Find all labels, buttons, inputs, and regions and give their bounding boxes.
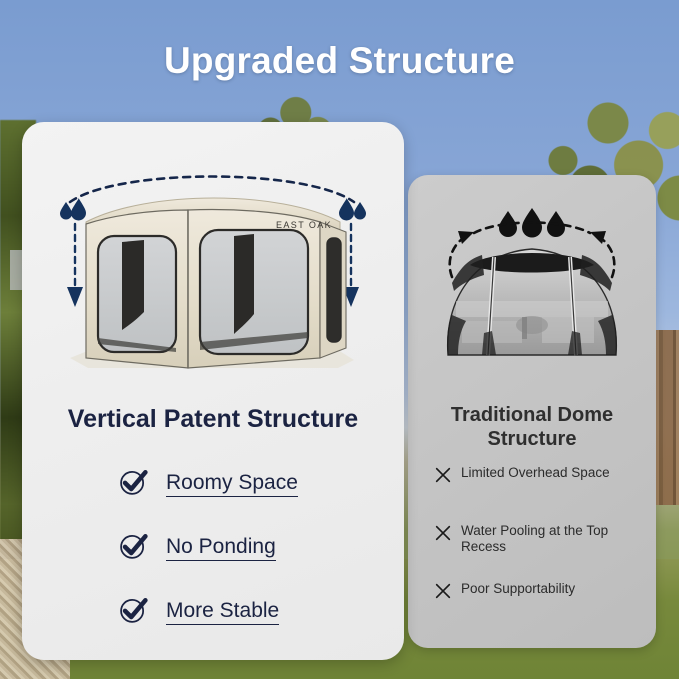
x-icon <box>434 524 452 547</box>
gazebo-body: EAST OAK <box>70 198 354 368</box>
list-item: Water Pooling at the Top Recess <box>408 523 656 581</box>
check-circle-icon <box>118 467 148 502</box>
feature-label: More Stable <box>166 599 279 624</box>
x-icon <box>434 582 452 605</box>
list-item: Limited Overhead Space <box>408 465 656 523</box>
traditional-dome-heading-line2: Structure <box>414 427 650 451</box>
traditional-dome-card: Traditional Dome Structure Limited Overh… <box>408 175 656 648</box>
drawback-label: Poor Supportability <box>461 581 575 597</box>
page-title: Upgraded Structure <box>0 40 679 82</box>
feature-label: Roomy Space <box>166 471 298 496</box>
list-item: No Ponding <box>22 516 404 580</box>
list-item: More Stable <box>22 580 404 644</box>
feature-list: Roomy Space No Ponding M <box>22 452 404 644</box>
feature-label: No Ponding <box>166 535 276 560</box>
drawback-label: Limited Overhead Space <box>461 465 610 481</box>
x-icon <box>434 466 452 489</box>
dome-body <box>447 249 617 355</box>
vertical-patent-heading: Vertical Patent Structure <box>22 405 404 434</box>
traditional-dome-heading: Traditional Dome Structure <box>414 403 650 452</box>
list-item: Roomy Space <box>22 452 404 516</box>
vertical-patent-card: EAST OAK Vertical Patent Structure Roomy… <box>22 122 404 660</box>
runoff-arrowhead-left <box>67 287 83 307</box>
check-circle-icon <box>118 531 148 566</box>
check-circle-icon <box>118 595 148 630</box>
traditional-dome-heading-line1: Traditional Dome <box>414 403 650 427</box>
infographic-stage: Upgraded Structure <box>0 0 679 679</box>
traditional-dome-illustration <box>422 205 642 380</box>
list-item: Poor Supportability <box>408 581 656 639</box>
vertical-patent-illustration: EAST OAK <box>48 162 378 392</box>
drawback-label: Water Pooling at the Top Recess <box>461 523 641 556</box>
brand-label: EAST OAK <box>276 220 332 230</box>
drawback-list: Limited Overhead Space Water Pooling at … <box>408 465 656 639</box>
